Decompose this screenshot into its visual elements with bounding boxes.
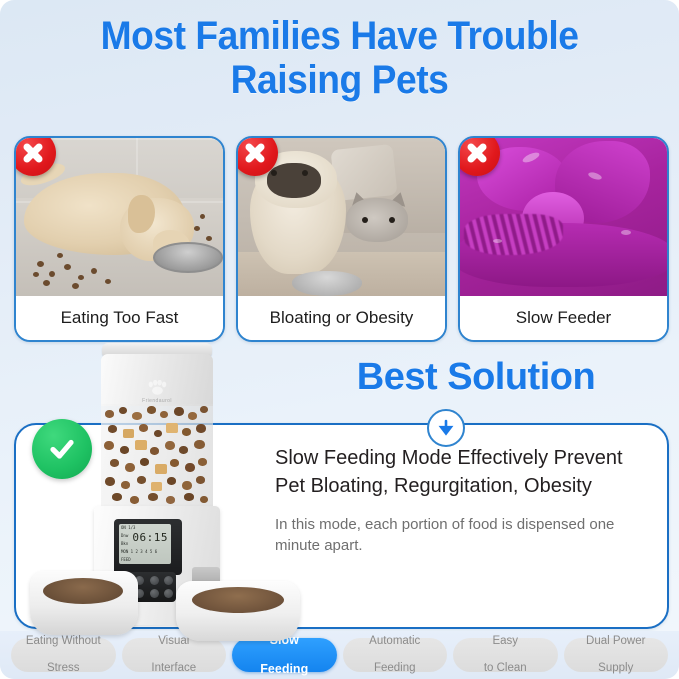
keypad-button[interactable]: [164, 589, 173, 598]
keypad-button[interactable]: [150, 576, 159, 585]
keypad-button[interactable]: [164, 576, 173, 585]
feature-tab-bar: Eating Without Stress Visual Interface S…: [0, 631, 679, 679]
lcd-row-1: ON 1/3: [121, 525, 135, 530]
lcd-time-primary: 06:15: [132, 531, 168, 544]
infographic-root: Most Families Have Trouble Raising Pets: [0, 0, 679, 679]
tab-label-line-1: Eating Without: [24, 635, 103, 649]
lcd-row-3: Bkn: [121, 541, 128, 546]
tab-label-line-2: Feeding: [367, 662, 422, 676]
problem-card-slow-feeder: Slow Feeder: [458, 136, 669, 342]
feature-tab-automatic-feeding[interactable]: Automatic Feeding: [343, 638, 448, 672]
solution-subtitle: In this mode, each portion of food is di…: [275, 514, 651, 557]
problem-card-caption: Eating Too Fast: [16, 296, 223, 340]
feature-tab-eating-without-stress[interactable]: Eating Without Stress: [11, 638, 116, 672]
feeder-lcd-screen: ON 1/3 Dnw Bkn MON 1 2 3 4 5 6 FEED 06:1…: [119, 524, 171, 564]
problem-card-caption: Bloating or Obesity: [238, 296, 445, 340]
feature-tab-visual-interface[interactable]: Visual Interface: [122, 638, 227, 672]
arrow-down-icon: [427, 409, 465, 447]
feeder-food-window: [101, 404, 213, 508]
tab-label-line-2: Interface: [149, 662, 198, 676]
page-title-line-1: Most Families Have Trouble: [101, 14, 579, 58]
lcd-row-2: Dnw: [121, 533, 128, 538]
tab-label-line-2: to Clean: [482, 662, 529, 676]
lcd-row-5: FEED: [121, 557, 131, 562]
product-image-automatic-feeder: Friendaurol: [30, 343, 300, 635]
problem-cards: Eating Too Fast Bloati: [14, 136, 665, 338]
tab-label-line-2: Feeding: [258, 662, 310, 677]
feeder-bowl-right: [176, 581, 300, 641]
best-solution-heading: Best Solution: [286, 358, 666, 396]
lcd-row-4: MON 1 2 3 4 5 6: [121, 549, 157, 554]
check-mark-icon: [32, 419, 92, 479]
tab-label-line-1: Automatic: [367, 635, 422, 649]
keypad-button[interactable]: [150, 589, 159, 598]
feeder-lcd-panel: ON 1/3 Dnw Bkn MON 1 2 3 4 5 6 FEED 06:1…: [114, 519, 182, 575]
page-title: Most Families Have Trouble Raising Pets: [24, 14, 655, 102]
feature-tab-easy-to-clean[interactable]: Easy to Clean: [453, 638, 558, 672]
problem-card-eating-too-fast: Eating Too Fast: [14, 136, 225, 342]
paw-icon: [146, 380, 168, 396]
feeder-hopper-top: Friendaurol: [101, 354, 213, 406]
tab-label-line-1: Dual Power: [584, 635, 647, 649]
feature-tab-slow-feeding[interactable]: Slow Feeding: [232, 638, 337, 672]
page-title-line-2: Raising Pets: [24, 58, 655, 102]
problem-card-caption: Slow Feeder: [460, 296, 667, 340]
solution-text: Slow Feeding Mode Effectively Prevent Pe…: [275, 444, 651, 556]
tab-label-line-1: Easy: [482, 635, 529, 649]
feature-tab-dual-power-supply[interactable]: Dual Power Supply: [564, 638, 669, 672]
solution-title: Slow Feeding Mode Effectively Prevent Pe…: [275, 444, 651, 501]
feeder-bowl-left: [30, 571, 138, 635]
tab-label-line-2: Stress: [24, 662, 103, 676]
problem-card-bloating-obesity: Bloating or Obesity: [236, 136, 447, 342]
tab-label-line-2: Supply: [584, 662, 647, 676]
